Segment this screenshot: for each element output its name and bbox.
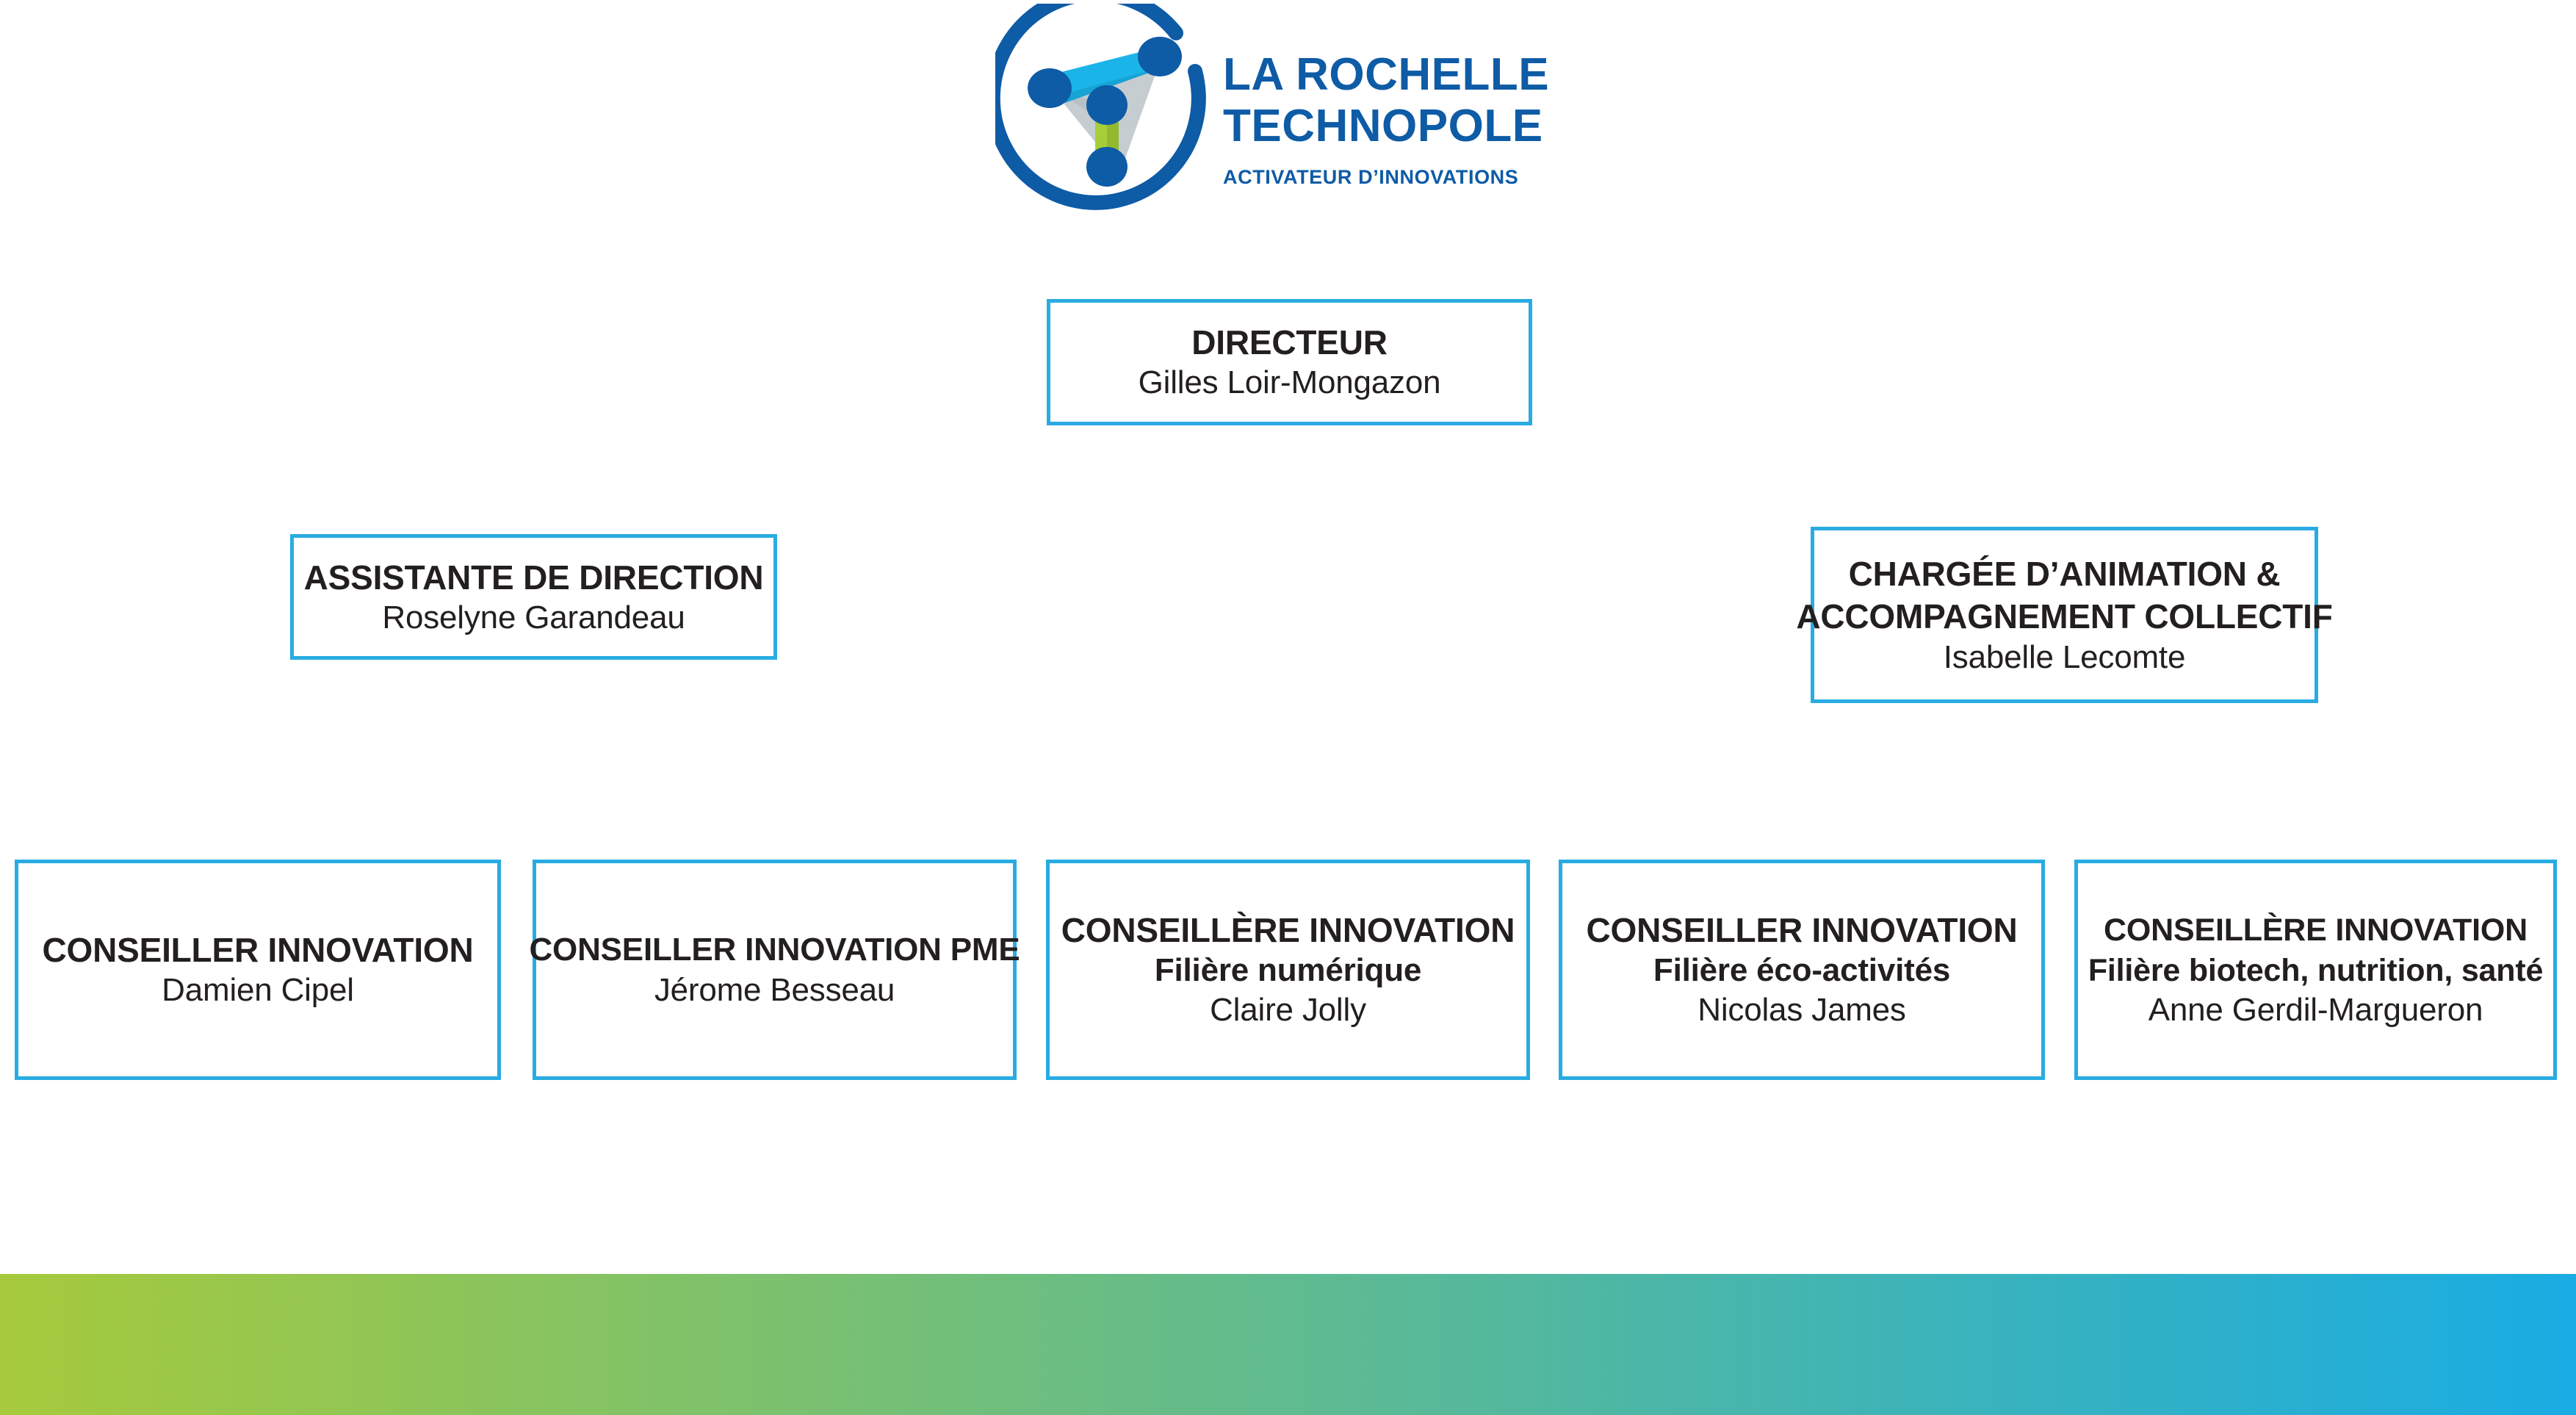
brand-wordmark: LA ROCHELLE TECHNOPOLE ACTIVATEUR D’INNO… bbox=[1223, 49, 1568, 196]
org-node-assistante-de-direction: ASSISTANTE DE DIRECTION Roselyne Garande… bbox=[290, 534, 777, 660]
org-node-person: Isabelle Lecomte bbox=[1944, 638, 2185, 677]
org-node-title: DIRECTEUR bbox=[1191, 322, 1388, 363]
org-node-subtitle: Filière éco-activités bbox=[1653, 951, 1950, 990]
org-node-conseiller-2: CONSEILLER INNOVATION PME Jérome Besseau bbox=[533, 860, 1017, 1080]
org-node-person: Claire Jolly bbox=[1210, 990, 1366, 1030]
org-node-conseiller-1: CONSEILLER INNOVATION Damien Cipel bbox=[15, 860, 501, 1080]
org-node-title: CONSEILLER INNOVATION bbox=[43, 929, 474, 971]
org-node-title: CONSEILLER INNOVATION bbox=[1587, 910, 2018, 951]
brand-wordmark-line2: TECHNOPOLE bbox=[1223, 101, 1568, 152]
brand-logo: LA ROCHELLE TECHNOPOLE ACTIVATEUR D’INNO… bbox=[995, 4, 1576, 220]
la-rochelle-technopole-logo-icon bbox=[995, 4, 1216, 220]
org-node-conseiller-3: CONSEILLÈRE INNOVATION Filière numérique… bbox=[1046, 860, 1530, 1080]
org-node-subtitle: Filière numérique bbox=[1155, 951, 1421, 990]
org-node-conseiller-5: CONSEILLÈRE INNOVATION Filière biotech, … bbox=[2074, 860, 2557, 1080]
org-node-person: Damien Cipel bbox=[162, 971, 354, 1010]
org-node-title: CONSEILLÈRE INNOVATION bbox=[2104, 910, 2528, 951]
footer-gradient-bar bbox=[0, 1274, 2576, 1415]
org-node-title-line1: CHARGÉE D’ANIMATION & bbox=[1849, 552, 2281, 595]
org-node-title-line2: ACCOMPAGNEMENT COLLECTIF bbox=[1796, 595, 2332, 638]
org-node-person: Nicolas James bbox=[1698, 990, 1906, 1030]
org-node-title: CONSEILLÈRE INNOVATION bbox=[1061, 910, 1515, 951]
org-node-person: Roselyne Garandeau bbox=[382, 598, 685, 638]
org-node-title: ASSISTANTE DE DIRECTION bbox=[304, 557, 764, 598]
org-node-directeur: DIRECTEUR Gilles Loir-Mongazon bbox=[1047, 299, 1532, 425]
org-node-person: Gilles Loir-Mongazon bbox=[1139, 363, 1441, 403]
brand-tagline: ACTIVATEUR D’INNOVATIONS bbox=[1223, 162, 1568, 192]
org-node-person: Jérome Besseau bbox=[654, 971, 895, 1010]
org-node-person: Anne Gerdil-Margueron bbox=[2149, 990, 2483, 1030]
org-node-chargee-animation: CHARGÉE D’ANIMATION & ACCOMPAGNEMENT COL… bbox=[1811, 527, 2318, 703]
org-node-subtitle: Filière biotech, nutrition, santé bbox=[2088, 951, 2543, 990]
brand-wordmark-line1: LA ROCHELLE bbox=[1223, 49, 1568, 101]
org-node-conseiller-4: CONSEILLER INNOVATION Filière éco-activi… bbox=[1559, 860, 2045, 1080]
org-node-title: CONSEILLER INNOVATION PME bbox=[529, 929, 1020, 971]
